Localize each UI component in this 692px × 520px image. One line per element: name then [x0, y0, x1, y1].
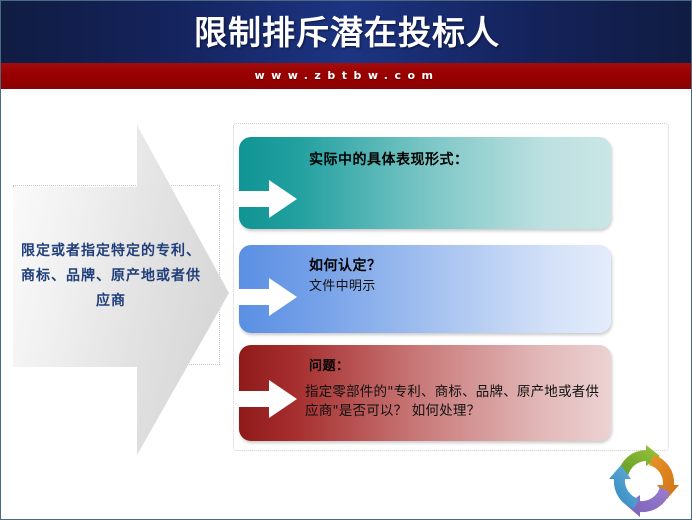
box-body-red: 指定零部件的"专利、商标、品牌、原产地或者供应商"是否可以？ 如何处理？: [305, 383, 610, 421]
slide-canvas: 限制排斥潜在投标人 www.zbtbw.com 限定或者指定特定的专利、商标、品…: [0, 0, 692, 520]
white-arrow-icon: [235, 379, 299, 419]
box-heading-red: 问题：: [309, 355, 350, 374]
content-box-green[interactable]: 实际中的具体表现形式：: [239, 137, 611, 229]
content-box-red[interactable]: 问题： 指定零部件的"专利、商标、品牌、原产地或者供应商"是否可以？ 如何处理？: [239, 345, 611, 441]
white-arrow-icon: [235, 179, 299, 219]
recycle-cycle-logo: [608, 445, 682, 517]
box-heading-blue: 如何认定？: [309, 255, 382, 275]
white-arrow-icon: [235, 277, 299, 317]
page-title: 限制排斥潜在投标人: [1, 10, 692, 58]
content-box-blue[interactable]: 如何认定？ 文件中明示: [239, 245, 611, 333]
box-body-blue: 文件中明示: [309, 275, 376, 294]
header-divider: [1, 89, 692, 91]
site-url: www.zbtbw.com: [1, 63, 692, 89]
left-caption-text: 限定或者指定特定的专利、商标、品牌、原产地或者供应商: [21, 239, 201, 314]
box-heading-green: 实际中的具体表现形式：: [309, 149, 469, 169]
